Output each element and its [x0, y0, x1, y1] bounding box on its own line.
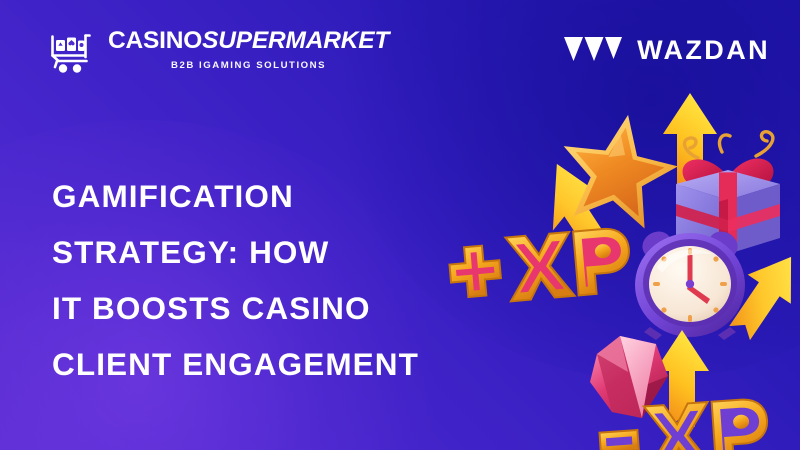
headline-line-3: IT BOOSTS CASINO: [52, 280, 482, 336]
page-title: GAMIFICATION STRATEGY: HOW IT BOOSTS CAS…: [52, 168, 482, 392]
alarm-clock-icon: [635, 226, 745, 340]
casinosupermarket-logo[interactable]: CASINOSUPERMARKET B2B IGAMING SOLUTIONS: [45, 26, 389, 74]
wazdan-wordmark: WAZDAN: [637, 37, 770, 64]
headline-line-4: CLIENT ENGAGEMENT: [52, 336, 482, 392]
brand-tagline: B2B IGAMING SOLUTIONS: [108, 60, 389, 71]
wazdan-logo[interactable]: WAZDAN: [564, 37, 770, 64]
headline-line-2: STRATEGY: HOW: [52, 224, 482, 280]
headline-line-1: GAMIFICATION: [52, 168, 482, 224]
shopping-cart-icon: [45, 26, 97, 74]
banner-header: CASINOSUPERMARKET B2B IGAMING SOLUTIONS …: [0, 0, 800, 100]
wazdan-triangles-mark: [564, 37, 622, 63]
marketing-banner: CASINOSUPERMARKET B2B IGAMING SOLUTIONS …: [0, 0, 800, 450]
brand-name-part2: SUPERMARKET: [202, 27, 389, 54]
brand-name: CASINOSUPERMARKET: [108, 29, 389, 54]
casinosupermarket-wordmark: CASINOSUPERMARKET B2B IGAMING SOLUTIONS: [108, 29, 389, 72]
brand-name-part1: CASINO: [108, 27, 202, 54]
